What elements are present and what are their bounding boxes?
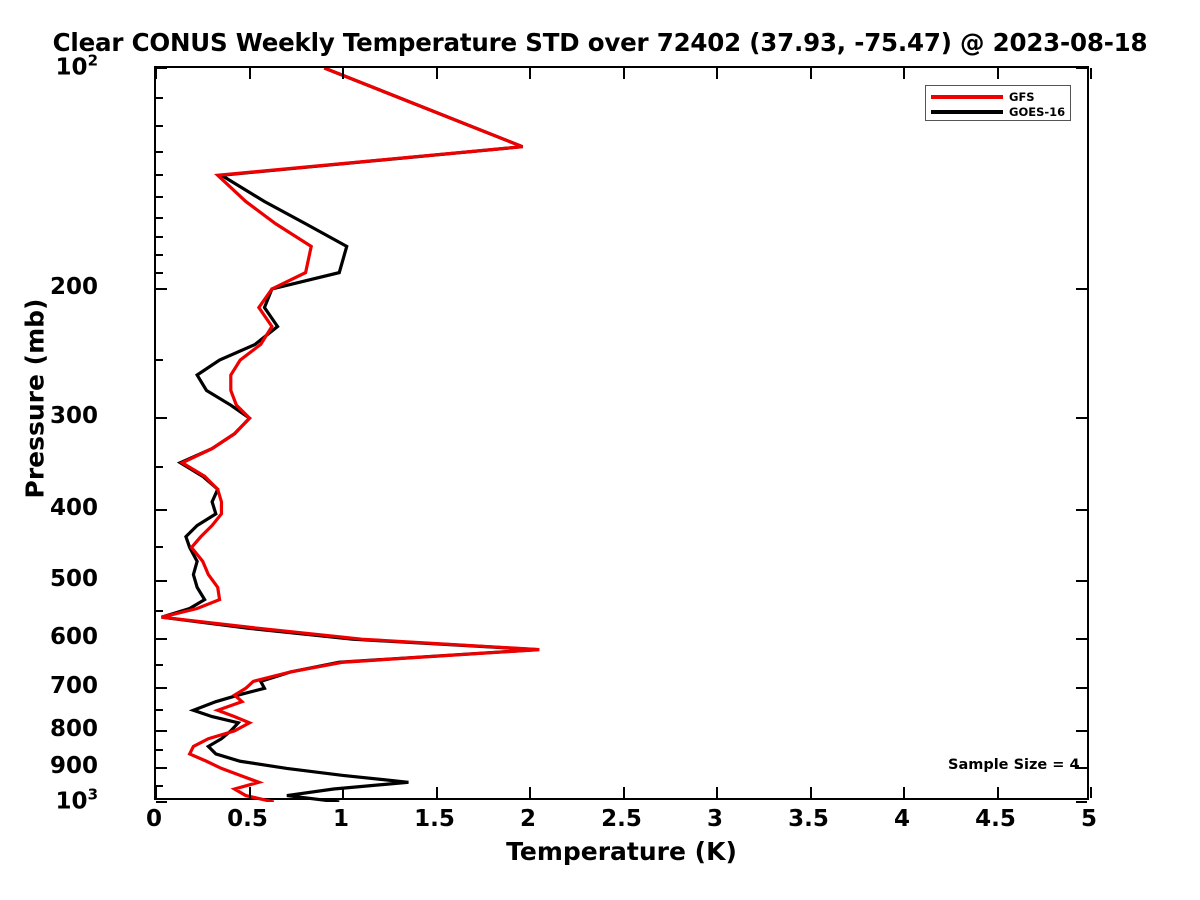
y-tick-label: 600 [50,624,98,650]
y-tick-right [1076,638,1087,640]
x-tick [623,787,625,798]
data-lines [156,68,1091,802]
x-tick-top [342,68,344,79]
y-tick-minor [156,359,163,361]
y-tick-minor [156,97,163,99]
x-tick [436,787,438,798]
y-tick-minor [156,466,163,468]
y-tick-right [1076,801,1087,803]
x-tick-label: 1.5 [414,806,455,832]
y-tick-right [1076,687,1087,689]
y-tick [156,767,167,769]
x-tick-top [997,68,999,79]
x-tick [997,787,999,798]
y-tick-right [1076,509,1087,511]
y-tick-label: 400 [50,495,98,521]
y-tick-right [1076,288,1087,290]
y-tick-label: 800 [50,716,98,742]
x-tick-top [436,68,438,79]
x-tick-label: 3.5 [788,806,829,832]
y-tick [156,638,167,640]
x-tick [155,787,157,798]
y-tick [156,580,167,582]
y-tick-minor [156,125,163,127]
x-tick-label: 0.5 [227,806,268,832]
y-tick-right [1076,417,1087,419]
x-tick-top [903,68,905,79]
y-tick [156,801,167,803]
y-tick [156,730,167,732]
y-tick-minor [156,610,163,612]
y-tick [156,288,167,290]
y-tick-label: 300 [50,403,98,429]
x-tick [342,787,344,798]
y-tick-right [1076,580,1087,582]
x-tick-top [155,68,157,79]
y-tick-minor [156,785,163,787]
y-tick-label: 500 [50,566,98,592]
legend: GFS GOES-16 [925,85,1071,121]
legend-item-gfs: GFS [931,90,1065,104]
x-tick-label: 4.5 [975,806,1016,832]
y-tick-minor [156,709,163,711]
y-tick [156,687,167,689]
y-tick-right [1076,730,1087,732]
y-tick-label: 103 [56,786,98,815]
y-tick [156,509,167,511]
x-tick-top [623,68,625,79]
y-tick [156,417,167,419]
sample-size-annotation: Sample Size = 4 [948,757,1080,773]
x-tick-label: 4 [894,806,910,832]
y-tick-minor [156,151,163,153]
y-tick [156,67,167,69]
y-tick-label: 700 [50,673,98,699]
legend-label-goes-16: GOES-16 [1009,105,1065,119]
y-tick-label: 102 [56,52,98,81]
x-tick-label: 0 [146,806,162,832]
y-tick-minor [156,236,163,238]
y-tick-label: 900 [50,753,98,779]
x-tick [903,787,905,798]
x-tick-top [249,68,251,79]
y-tick-minor [156,174,163,176]
x-tick [810,787,812,798]
y-tick-minor [156,664,163,666]
y-tick-right [1076,67,1087,69]
figure: Clear CONUS Weekly Temperature STD over … [0,0,1200,900]
series-line-gfs [162,68,540,802]
y-tick-minor [156,196,163,198]
x-tick-top [716,68,718,79]
y-tick-minor [156,272,163,274]
x-tick-label: 1 [333,806,349,832]
y-axis-title: Pressure (mb) [21,184,50,614]
x-tick [249,787,251,798]
legend-swatch-gfs [931,95,1003,98]
y-tick-minor [156,217,163,219]
x-tick [529,787,531,798]
series-line-goes-16 [162,68,538,802]
y-tick-label: 200 [50,274,98,300]
x-tick-top [1090,68,1092,79]
x-tick-label: 2 [520,806,536,832]
y-tick-minor [156,749,163,751]
x-tick-label: 2.5 [601,806,642,832]
plot-area [154,66,1089,800]
x-tick-top [529,68,531,79]
y-tick-minor [156,546,163,548]
x-tick-top [810,68,812,79]
x-tick-label: 5 [1081,806,1097,832]
x-tick [1090,787,1092,798]
x-axis-title: Temperature (K) [154,837,1089,866]
y-tick-minor [156,254,163,256]
legend-label-gfs: GFS [1009,90,1035,104]
legend-item-goes-16: GOES-16 [931,105,1065,119]
page-title: Clear CONUS Weekly Temperature STD over … [0,28,1200,57]
x-tick [716,787,718,798]
x-tick-label: 3 [707,806,723,832]
legend-swatch-goes-16 [931,110,1003,113]
